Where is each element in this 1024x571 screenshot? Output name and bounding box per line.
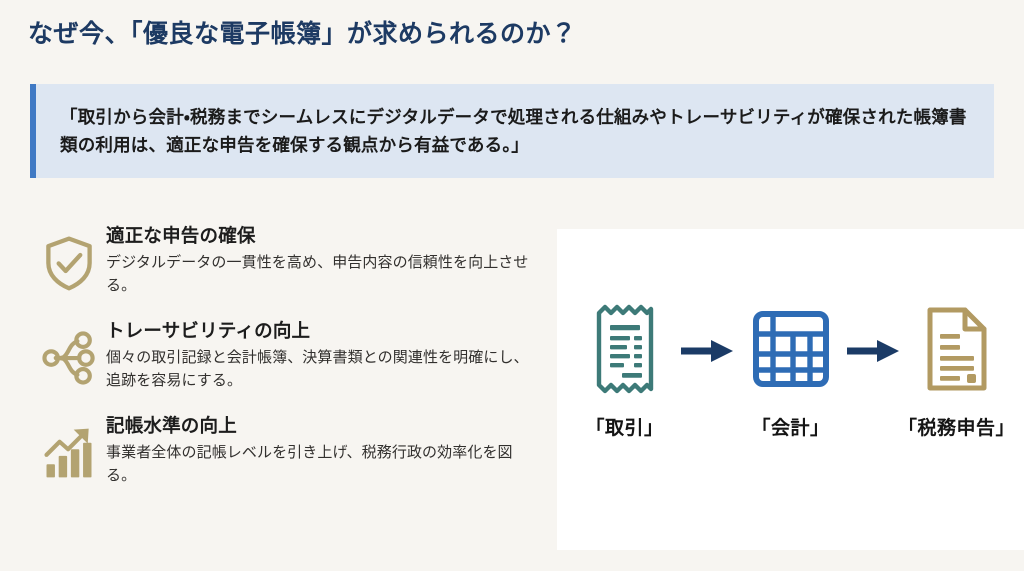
flow-node-label: 「税務申告」	[898, 413, 1015, 440]
quote-text: 「取引から会計・税務までシームレスにデジタルデータで処理される仕組みやトレーサビ…	[36, 103, 994, 160]
shield-check-icon	[32, 226, 106, 300]
flow-node-accounting: 「会計」	[739, 301, 843, 440]
feature-description: 個々の取引記録と会計帳簿、決算書類との関連性を明確にし、追跡を容易にする。	[106, 347, 542, 393]
feature-item-traceability: トレーサビリティの向上 個々の取引記録と会計帳簿、決算書類との関連性を明確にし、…	[32, 317, 542, 395]
feature-description: 事業者全体の記帳レベルを引き上げ、税務行政の効率化を図る。	[106, 442, 542, 488]
arrow-right-icon	[677, 338, 739, 364]
quote-callout: 「取引から会計・税務までシームレスにデジタルデータで処理される仕組みやトレーサビ…	[30, 84, 994, 178]
feature-body: トレーサビリティの向上 個々の取引記録と会計帳簿、決算書類との関連性を明確にし、…	[106, 317, 542, 393]
quote-segment-after-bold: する観点から有益である。」	[308, 135, 529, 155]
feature-item-bookkeeping-level: 記帳水準の向上 事業者全体の記帳レベルを引き上げ、税務行政の効率化を図る。	[32, 412, 542, 490]
receipt-icon	[589, 301, 661, 397]
flow-row: 「取引」	[557, 301, 1024, 440]
bar-chart-growth-icon	[32, 416, 106, 490]
slide-root: なぜ今、「優良な電子帳簿」が求められるのか？ 「取引から会計・税務までシームレス…	[0, 0, 1024, 571]
share-network-icon	[32, 321, 106, 395]
feature-title: トレーサビリティの向上	[106, 319, 542, 342]
page-title: なぜ今、「優良な電子帳簿」が求められるのか？	[28, 14, 577, 50]
arrow-right-icon	[843, 338, 905, 364]
flow-node-label: 「取引」	[585, 413, 663, 440]
flow-node-transaction: 「取引」	[573, 301, 677, 440]
tax-document-icon	[921, 301, 993, 397]
feature-body: 適正な申告の確保 デジタルデータの一貫性を高め、申告内容の信頼性を向上させる。	[106, 222, 542, 298]
feature-item-proper-filing: 適正な申告の確保 デジタルデータの一貫性を高め、申告内容の信頼性を向上させる。	[32, 222, 542, 300]
flow-node-label: 「会計」	[751, 413, 829, 440]
spreadsheet-table-icon	[751, 301, 831, 397]
quote-segment-bold: 適正な申告を確保	[166, 135, 308, 155]
feature-body: 記帳水準の向上 事業者全体の記帳レベルを引き上げ、税務行政の効率化を図る。	[106, 412, 542, 488]
feature-title: 適正な申告の確保	[106, 224, 542, 247]
flow-diagram-panel: 「取引」	[557, 229, 1024, 550]
feature-title: 記帳水準の向上	[106, 414, 542, 437]
feature-list: 適正な申告の確保 デジタルデータの一貫性を高め、申告内容の信頼性を向上させる。	[32, 222, 542, 507]
flow-node-tax-filing: 「税務申告」	[905, 301, 1009, 440]
feature-description: デジタルデータの一貫性を高め、申告内容の信頼性を向上させる。	[106, 252, 542, 298]
